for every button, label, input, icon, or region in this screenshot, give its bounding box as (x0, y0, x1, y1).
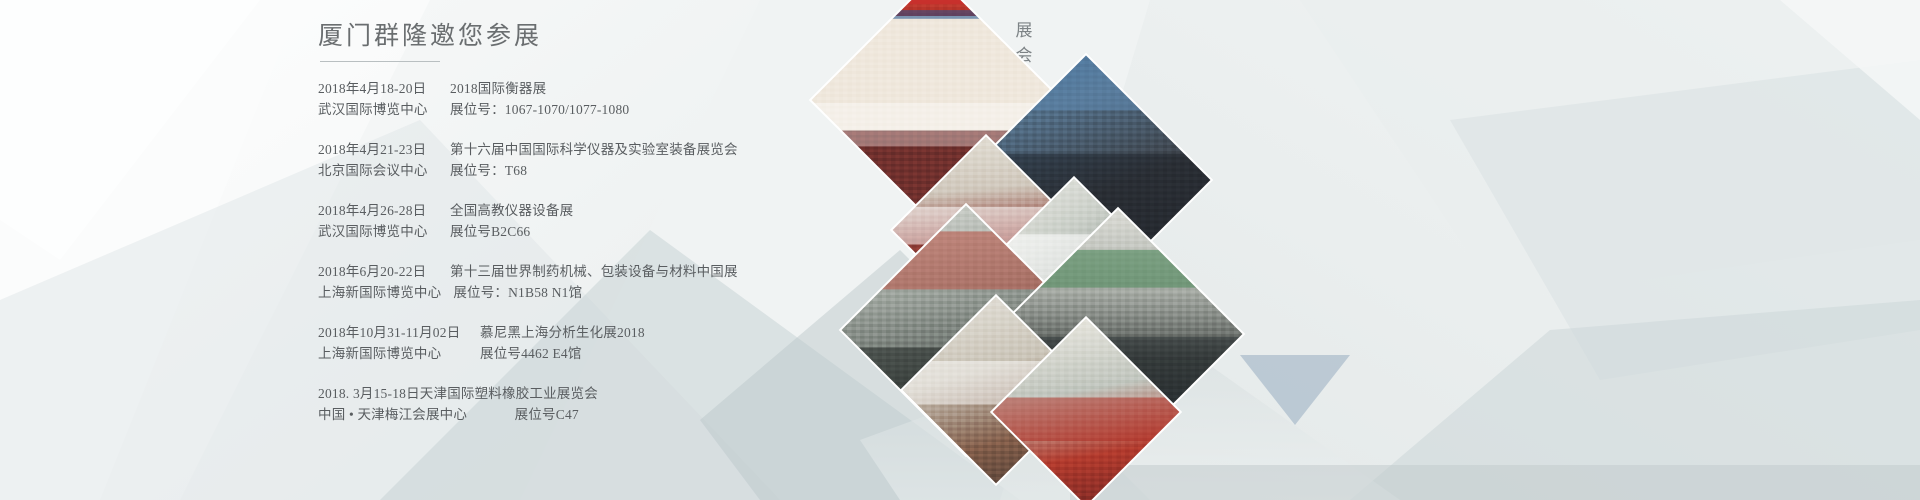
event-name: 第十三届世界制药机械、包装设备与材料中国展 (450, 261, 738, 282)
event-line-venue: 武汉国际博览中心 展位号：1067-1070/1077-1080 (318, 99, 878, 120)
event-line-venue: 上海新国际博览中心 展位号：N1B58 N1馆 (318, 282, 878, 303)
exhibition-banner: 厦门群隆邀您参展 2018年4月18-20日 2018国际衡器展 武汉国际博览中… (0, 0, 1920, 500)
event-date: 2018. 3月15-18日天津国际塑料橡胶工业展览会 (318, 383, 598, 404)
event-venue: 武汉国际博览中心 (318, 99, 438, 120)
event-item-3: 2018年4月26-28日 全国高教仪器设备展 武汉国际博览中心 展位号B2C6… (318, 200, 878, 242)
event-line-venue: 上海新国际博览中心 展位号4462 E4馆 (318, 343, 878, 364)
event-booth: 展位号4462 E4馆 (480, 343, 582, 364)
event-venue: 武汉国际博览中心 (318, 221, 438, 242)
event-name: 全国高教仪器设备展 (450, 200, 573, 221)
event-name: 慕尼黑上海分析生化展2018 (480, 322, 645, 343)
event-booth: 展位号：N1B58 N1馆 (453, 282, 582, 303)
event-date: 2018年4月26-28日 (318, 200, 438, 221)
event-line-date: 2018年4月18-20日 2018国际衡器展 (318, 78, 878, 99)
event-booth: 展位号：1067-1070/1077-1080 (450, 99, 629, 120)
event-venue: 中国 • 天津梅江会展中心 (318, 404, 467, 425)
event-date: 2018年4月21-23日 (318, 139, 438, 160)
event-item-6: 2018. 3月15-18日天津国际塑料橡胶工业展览会 中国 • 天津梅江会展中… (318, 383, 878, 425)
event-venue: 上海新国际博览中心 (318, 282, 441, 303)
event-booth: 展位号：T68 (450, 160, 527, 181)
event-date: 2018年6月20-22日 (318, 261, 438, 282)
photo-collage (830, 0, 1230, 500)
event-date: 2018年4月18-20日 (318, 78, 438, 99)
event-list-panel: 厦门群隆邀您参展 2018年4月18-20日 2018国际衡器展 武汉国际博览中… (318, 22, 878, 444)
event-item-4: 2018年6月20-22日 第十三届世界制药机械、包装设备与材料中国展 上海新国… (318, 261, 878, 303)
event-line-venue: 中国 • 天津梅江会展中心 展位号C47 (318, 404, 878, 425)
event-line-venue: 北京国际会议中心 展位号：T68 (318, 160, 878, 181)
event-item-5: 2018年10月31-11月02日 慕尼黑上海分析生化展2018 上海新国际博览… (318, 322, 878, 364)
event-booth: 展位号B2C66 (450, 221, 530, 242)
event-line-venue: 武汉国际博览中心 展位号B2C66 (318, 221, 878, 242)
event-line-date: 2018. 3月15-18日天津国际塑料橡胶工业展览会 (318, 383, 878, 404)
event-item-2: 2018年4月21-23日 第十六届中国国际科学仪器及实验室装备展览会 北京国际… (318, 139, 878, 181)
event-date: 2018年10月31-11月02日 (318, 322, 468, 343)
page-title: 厦门群隆邀您参展 (318, 22, 878, 52)
event-line-date: 2018年4月26-28日 全国高教仪器设备展 (318, 200, 878, 221)
event-line-date: 2018年4月21-23日 第十六届中国国际科学仪器及实验室装备展览会 (318, 139, 878, 160)
event-venue: 上海新国际博览中心 (318, 343, 468, 364)
event-line-date: 2018年10月31-11月02日 慕尼黑上海分析生化展2018 (318, 322, 878, 343)
event-name: 2018国际衡器展 (450, 78, 546, 99)
event-name: 第十六届中国国际科学仪器及实验室装备展览会 (450, 139, 738, 160)
event-venue: 北京国际会议中心 (318, 160, 438, 181)
title-divider (320, 61, 440, 62)
event-line-date: 2018年6月20-22日 第十三届世界制药机械、包装设备与材料中国展 (318, 261, 878, 282)
event-booth: 展位号C47 (515, 404, 579, 425)
event-item-1: 2018年4月18-20日 2018国际衡器展 武汉国际博览中心 展位号：106… (318, 78, 878, 120)
